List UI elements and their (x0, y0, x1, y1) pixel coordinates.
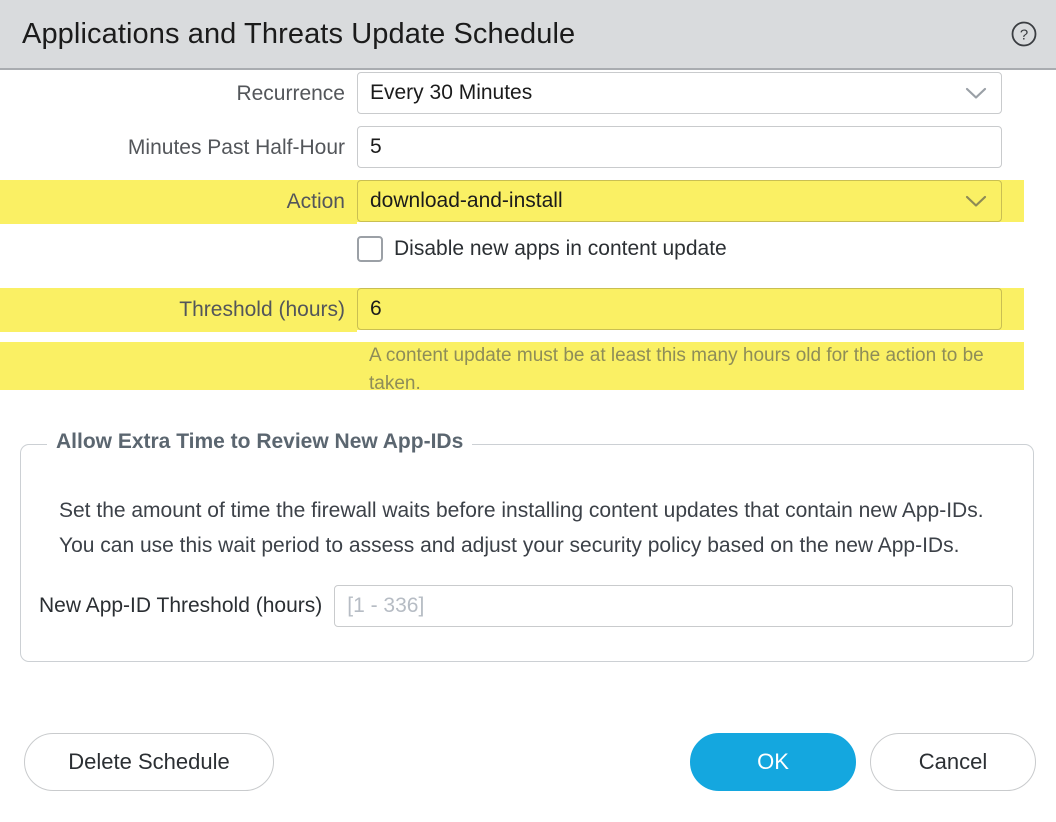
new-appid-threshold-field (334, 585, 1013, 627)
delete-schedule-button[interactable]: Delete Schedule (24, 733, 274, 791)
form-row-minutes-past-half-hour: Minutes Past Half-Hour (0, 126, 1056, 180)
recurrence-dropdown[interactable]: Every 30 Minutes (357, 72, 1002, 114)
svg-text:?: ? (1020, 27, 1028, 44)
new-appid-threshold-label: New App-ID Threshold (hours) (39, 594, 334, 618)
fieldset-legend: Allow Extra Time to Review New App-IDs (47, 430, 472, 454)
form-row-recurrence: Recurrence Every 30 Minutes (0, 72, 1056, 126)
action-value: download-and-install (370, 189, 563, 213)
threshold-hours-label: Threshold (hours) (0, 288, 357, 332)
cancel-button[interactable]: Cancel (870, 733, 1036, 791)
recurrence-label: Recurrence (0, 72, 357, 116)
disable-new-apps-checkbox[interactable] (357, 236, 383, 262)
disable-new-apps-label: Disable new apps in content update (394, 237, 727, 261)
dialog-titlebar: Applications and Threats Update Schedule… (0, 0, 1056, 70)
dialog-footer: Delete Schedule OK Cancel (0, 727, 1056, 799)
action-field: download-and-install (357, 180, 1024, 222)
threshold-helper-spacer (0, 342, 357, 390)
threshold-helper-field: A content update must be at least this m… (357, 342, 1024, 390)
allow-extra-time-fieldset: Allow Extra Time to Review New App-IDs S… (20, 444, 1034, 662)
recurrence-field: Every 30 Minutes (357, 72, 1024, 114)
minutes-past-half-hour-field (357, 126, 1024, 168)
threshold-hours-input[interactable] (357, 288, 1002, 330)
applications-threats-update-schedule-dialog: Applications and Threats Update Schedule… (0, 0, 1056, 822)
ok-button[interactable]: OK (690, 733, 856, 791)
help-circle-icon[interactable]: ? (1010, 20, 1038, 48)
new-appid-threshold-row: New App-ID Threshold (hours) (21, 585, 1033, 627)
form-row-threshold-hours: Threshold (hours) (0, 288, 1056, 342)
new-appid-threshold-input[interactable] (334, 585, 1013, 627)
threshold-hours-field (357, 288, 1024, 330)
chevron-down-icon (963, 85, 989, 101)
chevron-down-icon (963, 193, 989, 209)
fieldset-description: Set the amount of time the firewall wait… (21, 445, 1033, 563)
form-row-action: Action download-and-install (0, 180, 1056, 234)
help-circle-glyph: ? (1010, 20, 1038, 48)
threshold-hours-helper-text: A content update must be at least this m… (357, 342, 1002, 390)
form-row-disable-new-apps: Disable new apps in content update (0, 234, 1056, 288)
dialog-title: Applications and Threats Update Schedule (22, 18, 575, 51)
disable-new-apps-field: Disable new apps in content update (357, 234, 1024, 262)
minutes-past-half-hour-label: Minutes Past Half-Hour (0, 126, 357, 170)
recurrence-value: Every 30 Minutes (370, 81, 532, 105)
minutes-past-half-hour-input[interactable] (357, 126, 1002, 168)
form-area: Recurrence Every 30 Minutes Minutes Past… (0, 72, 1056, 390)
action-label: Action (0, 180, 357, 224)
threshold-hours-helper-row: A content update must be at least this m… (0, 342, 1056, 390)
action-dropdown[interactable]: download-and-install (357, 180, 1002, 222)
